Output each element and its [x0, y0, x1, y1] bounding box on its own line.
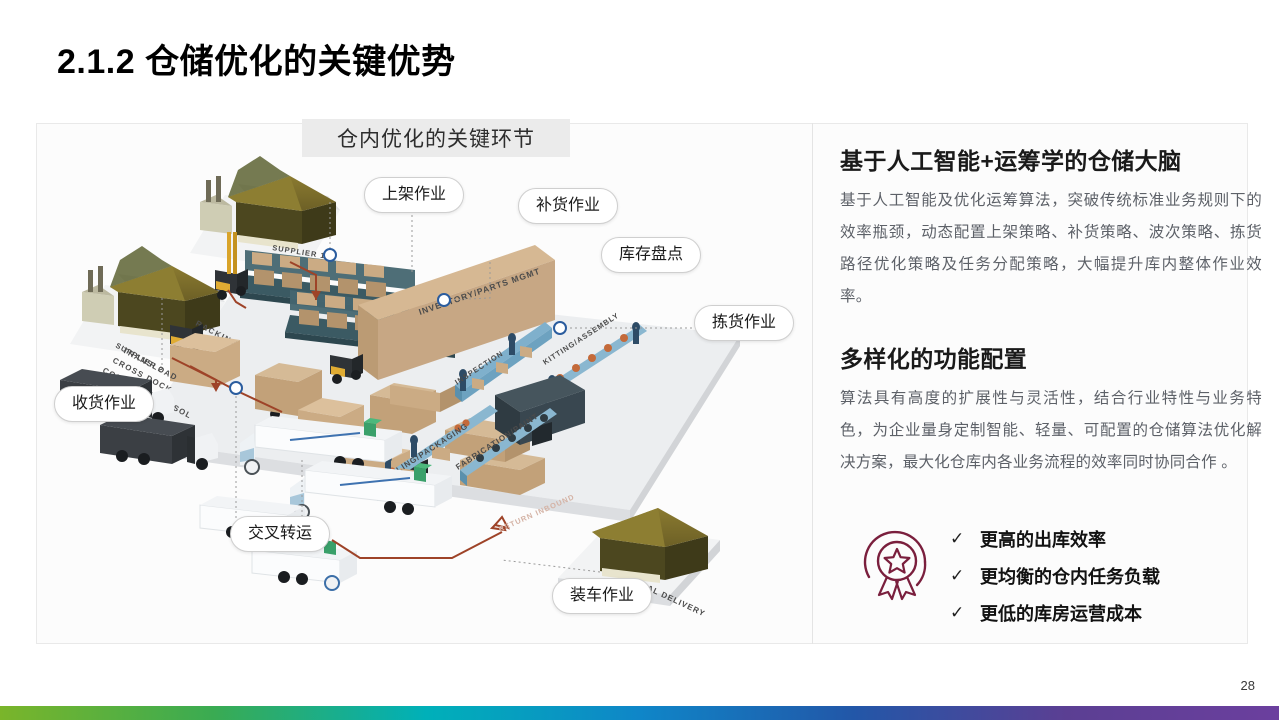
- page-number: 28: [1241, 678, 1255, 693]
- slide-root: 2.1.2 仓储优化的关键优势 仓内优化的关键环节: [0, 0, 1279, 720]
- check-icon: ✓: [950, 603, 980, 623]
- section-2-heading: 多样化的功能配置: [840, 340, 1260, 374]
- award-medal-icon: [855, 519, 939, 624]
- check-icon: ✓: [950, 529, 980, 549]
- callout-loading[interactable]: 装车作业: [552, 578, 652, 614]
- callout-receiving[interactable]: 收货作业: [54, 386, 154, 422]
- benefit-item: ✓ 更高的出库效率: [950, 520, 1260, 557]
- callout-replenish[interactable]: 补货作业: [518, 188, 618, 224]
- benefit-label: 更均衡的仓内任务负载: [980, 563, 1160, 589]
- callout-stocktake[interactable]: 库存盘点: [601, 237, 701, 273]
- callout-picking[interactable]: 拣货作业: [694, 305, 794, 341]
- panel-divider: [812, 123, 813, 644]
- benefit-item: ✓ 更低的库房运营成本: [950, 594, 1260, 631]
- callout-putaway[interactable]: 上架作业: [364, 177, 464, 213]
- footer-gradient-bar: [0, 706, 1279, 720]
- section-1-body: 基于人工智能及优化运筹算法，突破传统标准业务规则下的效率瓶颈，动态配置上架策略、…: [840, 185, 1262, 313]
- section-2-body: 算法具有高度的扩展性与灵活性，结合行业特性与业务特色，为企业量身定制智能、轻量、…: [840, 383, 1262, 479]
- benefit-item: ✓ 更均衡的仓内任务负载: [950, 557, 1260, 594]
- page-title: 2.1.2 仓储优化的关键优势: [57, 34, 456, 83]
- benefits-list: ✓ 更高的出库效率 ✓ 更均衡的仓内任务负载 ✓ 更低的库房运营成本: [950, 520, 1260, 631]
- check-icon: ✓: [950, 566, 980, 586]
- benefit-label: 更高的出库效率: [980, 526, 1106, 552]
- section-1-heading: 基于人工智能+运筹学的仓储大脑: [840, 142, 1260, 176]
- callout-crossdock[interactable]: 交叉转运: [230, 516, 330, 552]
- benefit-label: 更低的库房运营成本: [980, 600, 1142, 626]
